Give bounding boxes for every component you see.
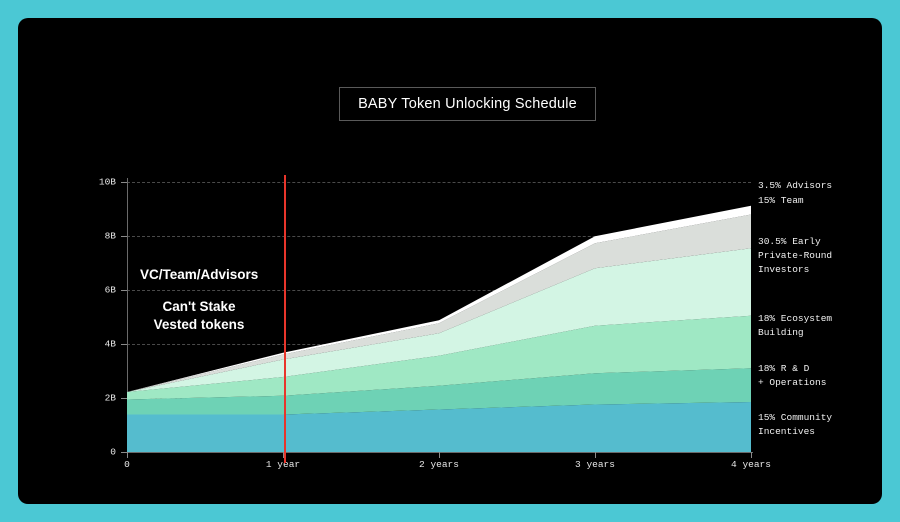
series-label-team: 15% Team [758, 194, 804, 208]
ytick-label-4b: 4B [76, 339, 116, 350]
xtick-label-3y: 3 years [575, 459, 615, 470]
series-label-rd-operations: 18% R & D + Operations [758, 362, 826, 390]
ytick-mark-10b [121, 182, 127, 183]
ytick-label-2b: 2B [76, 393, 116, 404]
xtick-mark-3y [595, 452, 596, 458]
ytick-mark-4b [121, 344, 127, 345]
chart-title-box: BABY Token Unlocking Schedule [339, 87, 596, 121]
xtick-mark-4y [751, 452, 752, 458]
ytick-mark-2b [121, 398, 127, 399]
xtick-label-2y: 2 years [419, 459, 459, 470]
ytick-mark-8b [121, 236, 127, 237]
xtick-label-1y: 1 year [266, 459, 300, 470]
ytick-mark-6b [121, 290, 127, 291]
annotation-vc-team-advisors: VC/Team/Advisors [140, 267, 258, 282]
x-axis-line [127, 452, 753, 453]
xtick-mark-0 [127, 452, 128, 458]
xtick-label-0: 0 [124, 459, 130, 470]
outer-frame: BABY Token Unlocking Schedule 10B 8B 6B … [0, 0, 900, 522]
series-label-community: 15% Community Incentives [758, 411, 832, 439]
series-label-advisors: 3.5% Advisors [758, 179, 832, 193]
series-label-early-investors: 30.5% Early Private-Round Investors [758, 235, 832, 276]
xtick-mark-2y [439, 452, 440, 458]
ytick-label-6b: 6B [76, 285, 116, 296]
ytick-label-10b: 10B [76, 177, 116, 188]
ytick-label-8b: 8B [76, 231, 116, 242]
annotation-cant-stake: Can't Stake Vested tokens [140, 298, 258, 334]
ytick-label-0: 0 [76, 447, 116, 458]
cliff-marker-line [284, 175, 286, 463]
series-label-ecosystem: 18% Ecosystem Building [758, 312, 832, 340]
chart-title: BABY Token Unlocking Schedule [358, 96, 577, 112]
chart-panel: BABY Token Unlocking Schedule 10B 8B 6B … [18, 18, 882, 504]
xtick-label-4y: 4 years [731, 459, 771, 470]
